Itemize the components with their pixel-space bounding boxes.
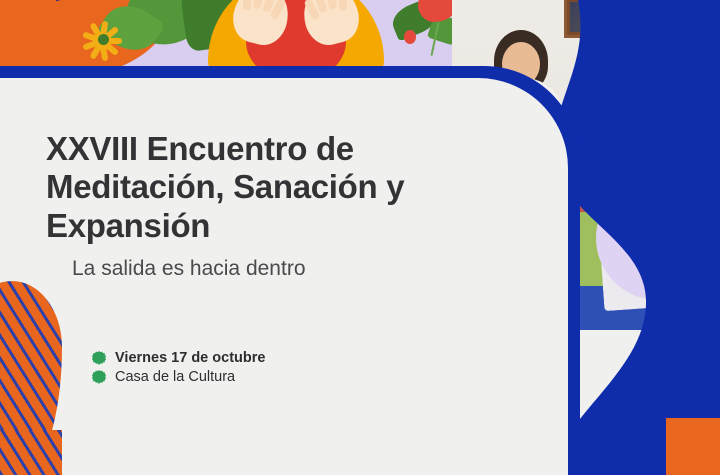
event-details-list: Viernes 17 de octubre Casa de la Cultura [92,350,522,388]
gear-bullet-icon [92,370,106,384]
poster-content: XXVIII Encuentro de Meditación, Sanación… [0,78,560,475]
page-title: XXVIII Encuentro de Meditación, Sanación… [46,130,486,245]
orange-bottom-right-shape [666,418,720,475]
event-venue: Casa de la Cultura [115,369,235,385]
event-poster: salida [0,0,720,475]
poster-subtitle: La salida es hacia dentro [72,257,492,281]
rose-icon [404,30,416,44]
flower-icon [86,26,126,56]
gear-bullet-icon [92,351,106,365]
list-item: Casa de la Cultura [92,369,522,385]
list-item: Viernes 17 de octubre [92,350,522,366]
event-date: Viernes 17 de octubre [115,350,265,366]
